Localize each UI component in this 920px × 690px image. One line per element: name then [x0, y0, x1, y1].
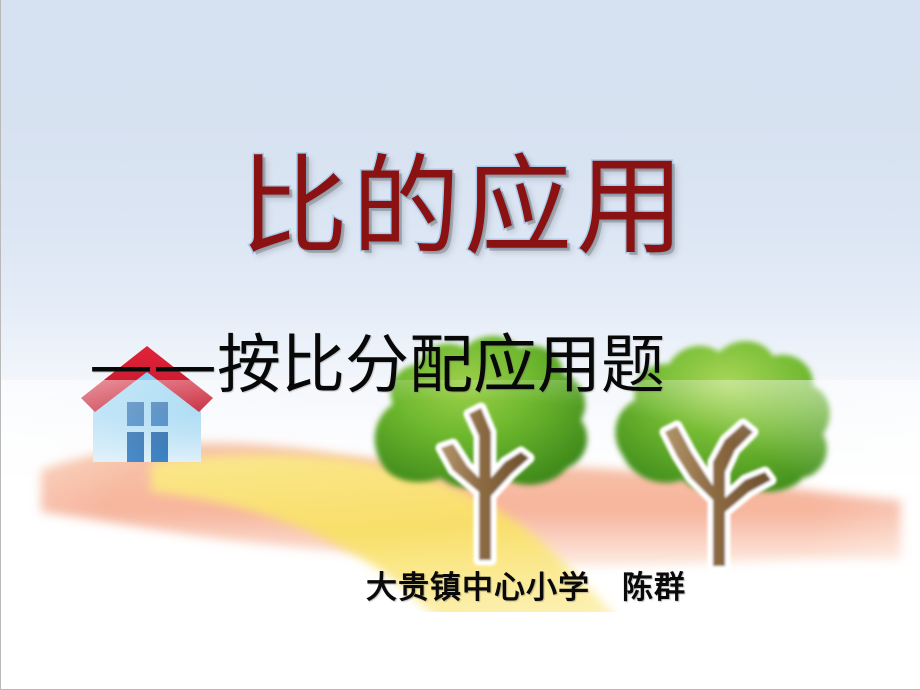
- presentation-slide: 比的应用 ——按比分配应用题 大贵镇中心小学 陈群: [0, 0, 920, 690]
- scenery-illustration: [1, 0, 920, 690]
